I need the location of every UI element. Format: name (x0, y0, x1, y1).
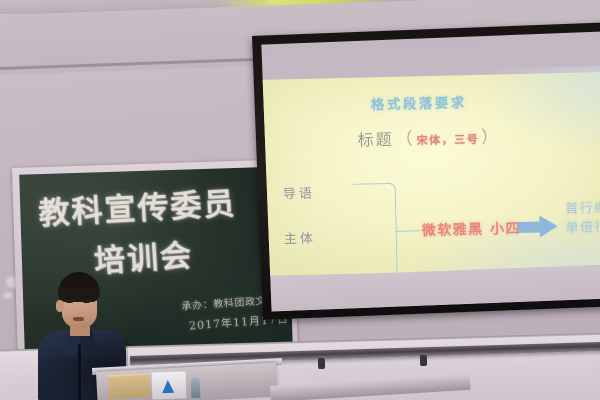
presenter-brow-right (82, 296, 91, 298)
bottle (190, 378, 200, 398)
projected-slide: 格式段落要求 标题 （ 宋体，三号 ） 导语 主体 结语 微软雅黑 小四 (262, 72, 600, 276)
tray-clip-right (420, 355, 427, 366)
slide-subtitle: 标题 （ 宋体，三号 ） (357, 122, 500, 150)
presenter-brow-left (65, 296, 74, 298)
tray-clip-left (318, 358, 325, 369)
slide-result-note: 首行缩进， 单倍行距 (565, 199, 600, 238)
arrow-head (539, 215, 557, 237)
presenter-ear (56, 300, 64, 312)
branch-label-body: 主体 (284, 227, 356, 248)
slide-result-note-line1: 首行缩进， (565, 199, 600, 219)
presenter-jacket-placket (78, 344, 81, 400)
box-logo-icon (162, 380, 174, 393)
presenter-eye-right (83, 300, 90, 303)
slide-subtitle-spec: 宋体，三号 (416, 131, 479, 148)
classroom-photo-scene: 教科宣传委员 培训会 承办：教科团政文宣部 2017年11月17日 格式段落要求… (0, 0, 600, 400)
presenter-mouth (73, 317, 84, 321)
slide-subtitle-open-paren: （ (395, 124, 415, 149)
presenter-eye-left (66, 300, 73, 303)
cardboard-box (107, 373, 150, 399)
slide-body-spec: 微软雅黑 小四 (421, 218, 521, 240)
slide-subtitle-close-paren: ） (481, 122, 501, 147)
slide-subtitle-main: 标题 (357, 126, 394, 151)
screen-surface: 格式段落要求 标题 （ 宋体，三号 ） 导语 主体 结语 微软雅黑 小四 (261, 31, 600, 311)
slide-title: 格式段落要求 (371, 91, 467, 113)
arrow-shaft (518, 222, 542, 234)
projector-screen: 格式段落要求 标题 （ 宋体，三号 ） 导语 主体 结语 微软雅黑 小四 (252, 22, 600, 320)
brace-bracket (353, 183, 398, 286)
slide-result-note-line2: 单倍行距 (566, 218, 600, 238)
right-arrow-icon (517, 215, 557, 238)
branch-label-lead: 导语 (283, 182, 355, 203)
wall-scuff-2 (3, 292, 13, 299)
